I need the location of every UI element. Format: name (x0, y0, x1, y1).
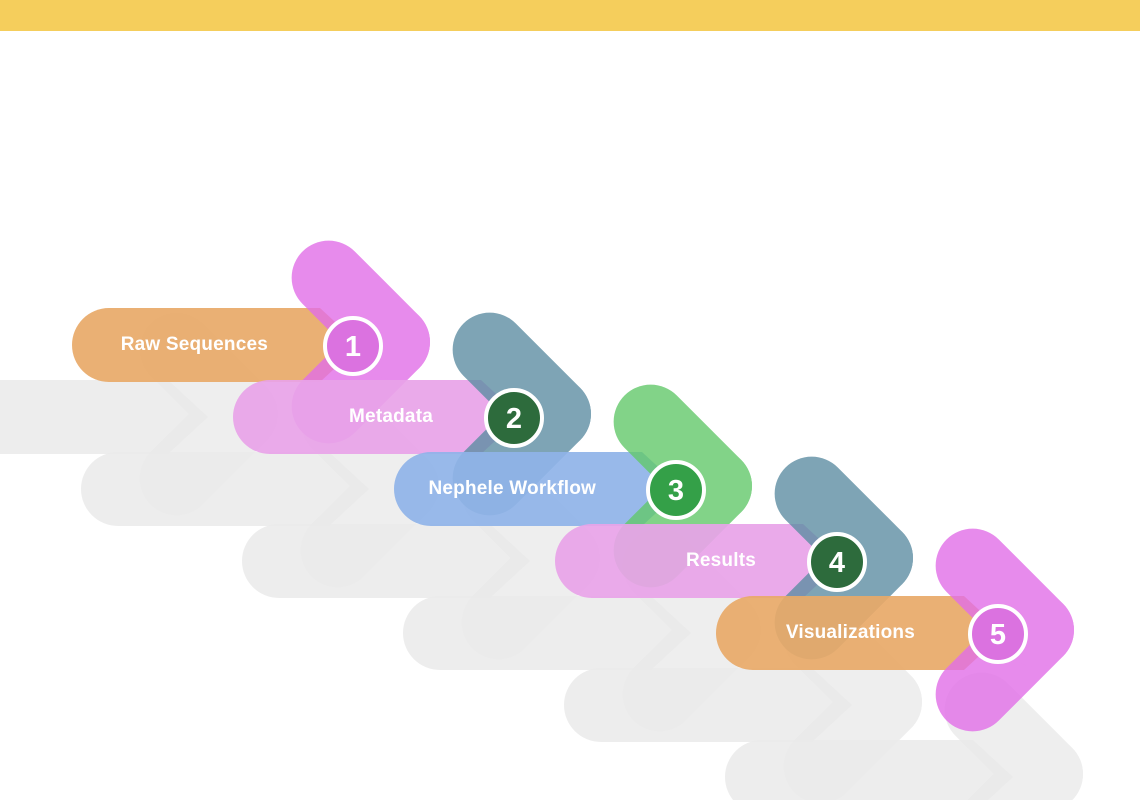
step-label-raw-sequences: Raw Sequences (121, 334, 268, 355)
diagram-stage: Raw Sequences1Metadata2Nephele Workflow3… (0, 0, 1140, 800)
step-label-visualizations: Visualizations (786, 622, 915, 643)
step-label-metadata: Metadata (349, 406, 433, 427)
badge-number: 4 (829, 547, 845, 579)
badge-number: 3 (668, 475, 684, 507)
step-label-nephele-workflow: Nephele Workflow (428, 478, 596, 499)
step-badge-visualizations[interactable]: 5 (970, 606, 1026, 662)
step-badge-raw-sequences[interactable]: 1 (325, 318, 381, 374)
badge-number: 5 (990, 619, 1006, 651)
badge-number: 1 (345, 331, 361, 363)
step-badge-nephele-workflow[interactable]: 3 (648, 462, 704, 518)
process-flow-diagram: Raw Sequences1Metadata2Nephele Workflow3… (0, 0, 1140, 800)
step-badge-results[interactable]: 4 (809, 534, 865, 590)
step-badge-metadata[interactable]: 2 (486, 390, 542, 446)
badge-number: 2 (506, 403, 522, 435)
step-label-results: Results (686, 550, 756, 571)
